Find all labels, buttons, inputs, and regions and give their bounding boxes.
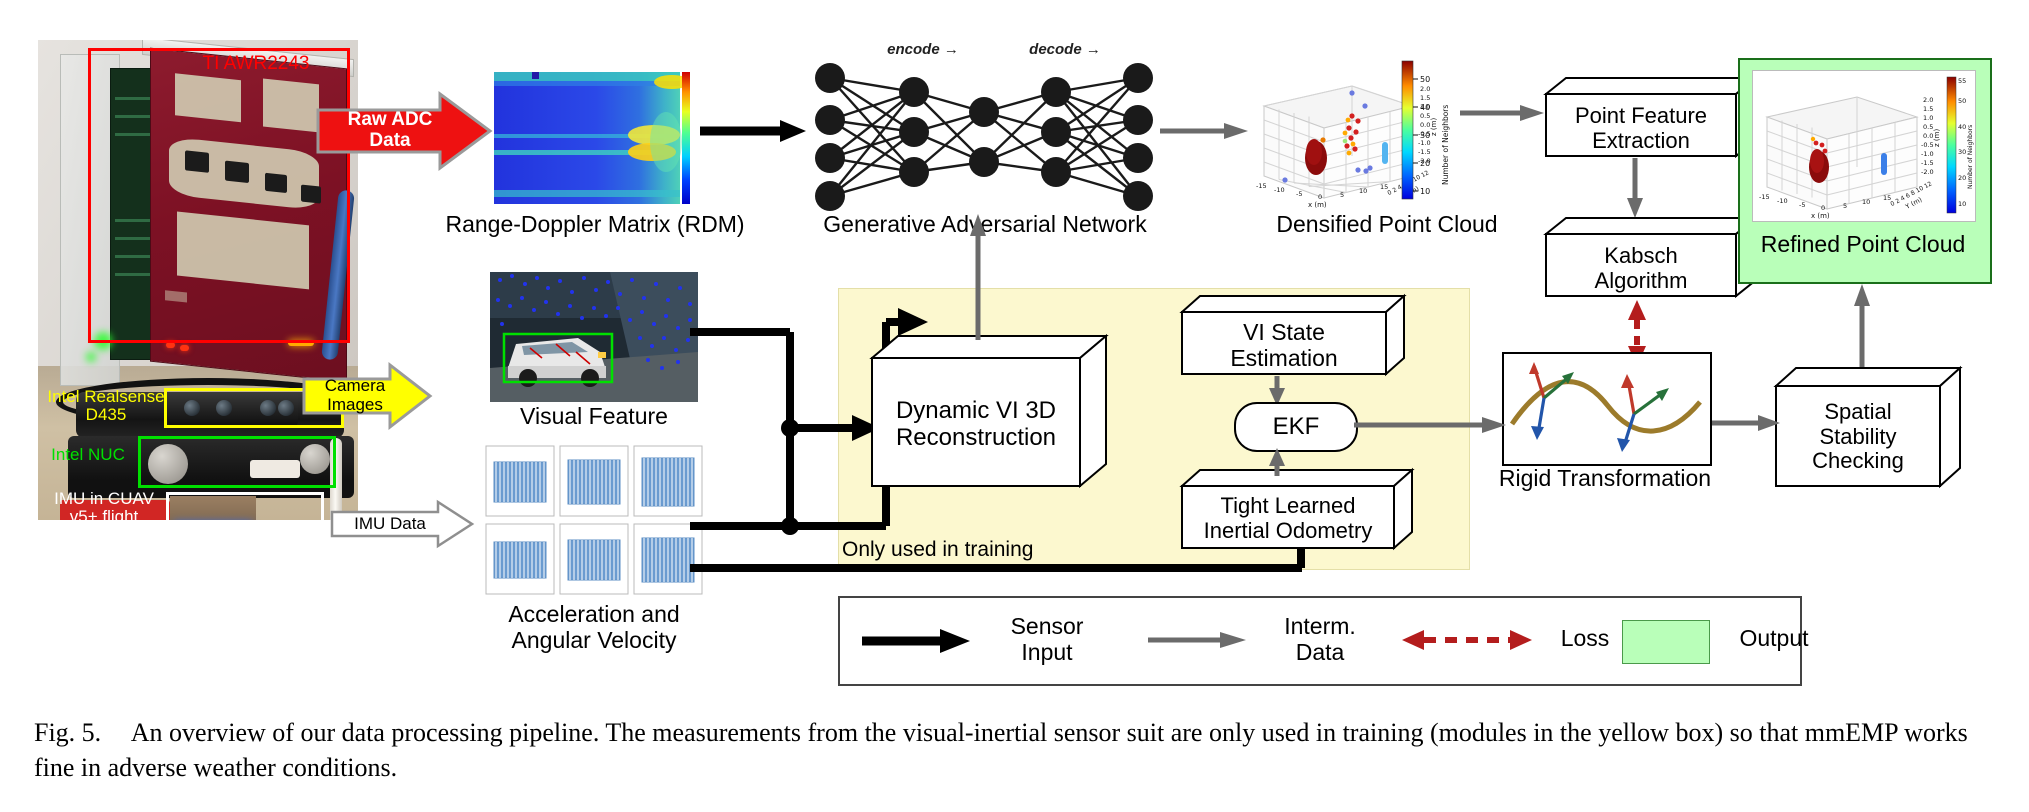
svg-text:10: 10	[1359, 187, 1367, 195]
module-vi-state-estimation[interactable]: VI State Estimation	[1182, 296, 1404, 376]
svg-text:x (m): x (m)	[1308, 201, 1327, 209]
svg-text:z (m): z (m)	[1933, 129, 1941, 147]
refined-point-cloud-caption: Refined Point Cloud	[1742, 232, 1984, 258]
legend-interm-data-label: Interm. Data	[1250, 614, 1390, 666]
gan-encode-label: encode →	[858, 42, 988, 59]
svg-text:-1.5: -1.5	[1921, 159, 1934, 167]
imu-signal-caption: Acceleration and Angular Velocity	[466, 602, 722, 654]
arrow-raw-adc-data: Raw ADC Data	[316, 92, 492, 170]
arrow-imu-data: IMU Data	[330, 500, 474, 548]
svg-text:2.0: 2.0	[1923, 96, 1933, 104]
rigid-transformation-caption: Rigid Transformation	[1480, 466, 1730, 492]
svg-text:20: 20	[1958, 174, 1966, 182]
wire-imu-to-tlio	[690, 556, 1310, 582]
legend-loss-label: Loss	[1540, 626, 1630, 652]
arrow-camera-images: Camera Images	[302, 363, 432, 429]
arrow-rigid-to-spatial	[1706, 414, 1782, 432]
legend-output-swatch	[1622, 620, 1710, 664]
svg-text:50: 50	[1958, 97, 1966, 105]
bbox-nuc	[138, 436, 336, 488]
svg-text:Number of Neighbors: Number of Neighbors	[1441, 105, 1450, 185]
svg-text:1.0: 1.0	[1923, 114, 1933, 122]
svg-text:1.5: 1.5	[1923, 105, 1933, 113]
legend-output-label: Output	[1714, 626, 1834, 652]
figure-canvas: TI AWR2243 Intel Realsense D435 Intel NU…	[0, 0, 2029, 812]
caption-label: Fig. 5.	[34, 718, 101, 747]
svg-text:40: 40	[1420, 103, 1430, 112]
refined-point-cloud-plot: 2.01.51.0 0.50.0-0.5 -1.0-1.5-2.0 -15-10…	[1752, 70, 1976, 222]
module-dynamic-vi-3d-reconstruction-label: Dynamic VI 3D Reconstruction	[872, 398, 1080, 452]
photo-label-imu: IMU in CUAV v5+ flight controller	[38, 490, 170, 520]
imu-signal-plots	[486, 446, 702, 596]
svg-text:0: 0	[1318, 193, 1322, 201]
gan-decode-label: decode →	[1000, 42, 1130, 59]
module-tight-learned-inertial-odometry[interactable]: Tight Learned Inertial Odometry	[1182, 470, 1412, 550]
module-point-feature-extraction[interactable]: Point Feature Extraction	[1546, 78, 1756, 158]
svg-text:5: 5	[1843, 202, 1847, 210]
ekf-node[interactable]: EKF	[1234, 402, 1358, 452]
module-vi-state-estimation-label: VI State Estimation	[1182, 320, 1386, 372]
arrow-recon-to-gan	[968, 212, 988, 340]
legend-sensor-input-label: Sensor Input	[972, 614, 1122, 666]
svg-text:10: 10	[1862, 198, 1870, 206]
svg-text:0.5: 0.5	[1923, 123, 1933, 131]
module-spatial-stability-checking-label: Spatial Stability Checking	[1776, 400, 1940, 474]
sensor-suite-photo: TI AWR2243 Intel Realsense D435 Intel NU…	[38, 40, 358, 520]
photo-label-radar: TI AWR2243	[166, 54, 346, 75]
svg-text:-5: -5	[1296, 190, 1302, 198]
svg-text:0.0: 0.0	[1923, 132, 1933, 140]
svg-text:-0.5: -0.5	[1921, 141, 1934, 149]
bbox-radar	[88, 48, 350, 343]
svg-text:x (m): x (m)	[1811, 212, 1830, 220]
arrow-raw-adc-data-label: Raw ADC Data	[348, 110, 433, 152]
visual-feature-caption: Visual Feature	[474, 404, 714, 430]
svg-text:-15: -15	[1759, 193, 1770, 201]
photo-label-nuc: Intel NUC	[40, 446, 136, 464]
arrow-densified-to-pfe	[1460, 104, 1546, 122]
svg-text:-10: -10	[1777, 197, 1788, 205]
bbox-imu	[166, 492, 324, 520]
module-point-feature-extraction-label: Point Feature Extraction	[1546, 104, 1736, 153]
svg-text:40: 40	[1958, 123, 1966, 131]
photo-label-camera: Intel Realsense D435	[42, 388, 170, 425]
svg-text:Number of Neighbors: Number of Neighbors	[1967, 125, 1974, 189]
module-spatial-stability-checking[interactable]: Spatial Stability Checking	[1776, 368, 1960, 486]
gan-network	[808, 58, 1160, 206]
arrow-ekf-to-rigid	[1354, 416, 1508, 434]
svg-text:50: 50	[1420, 75, 1430, 84]
svg-text:5: 5	[1340, 191, 1344, 199]
svg-text:-15: -15	[1256, 182, 1267, 190]
arrow-gan-to-densified	[1160, 122, 1250, 140]
svg-text:-5: -5	[1799, 201, 1805, 209]
densified-colorbar: 504030 2010 Number of Neighbors	[1400, 55, 1476, 205]
caption-text: An overview of our data processing pipel…	[34, 718, 1968, 782]
legend-interm-data-icon	[1148, 630, 1248, 650]
svg-text:10: 10	[1420, 187, 1430, 196]
module-kabsch-algorithm[interactable]: Kabsch Algorithm	[1546, 218, 1756, 298]
legend-loss-icon	[1402, 626, 1532, 654]
svg-text:0: 0	[1821, 204, 1825, 212]
arrow-imu-data-label: IMU Data	[354, 515, 426, 534]
svg-text:-1.0: -1.0	[1921, 150, 1934, 158]
rdm-caption: Range-Doppler Matrix (RDM)	[420, 212, 770, 238]
arrow-pfe-to-kabsch	[1626, 158, 1644, 220]
arrow-spatial-to-refined	[1852, 282, 1872, 374]
svg-text:55: 55	[1958, 77, 1966, 85]
rigid-transformation-plot	[1502, 352, 1712, 466]
svg-text:30: 30	[1420, 131, 1430, 140]
ekf-label: EKF	[1273, 413, 1320, 441]
module-tight-learned-inertial-odometry-label: Tight Learned Inertial Odometry	[1182, 494, 1394, 543]
svg-text:10: 10	[1958, 200, 1966, 208]
svg-text:30: 30	[1958, 148, 1966, 156]
arrow-camera-images-label: Camera Images	[325, 377, 385, 414]
module-kabsch-algorithm-label: Kabsch Algorithm	[1546, 244, 1736, 293]
svg-text:-2.0: -2.0	[1921, 168, 1934, 176]
module-dynamic-vi-3d-reconstruction[interactable]: Dynamic VI 3D Reconstruction	[872, 336, 1106, 486]
svg-text:20: 20	[1420, 159, 1430, 168]
svg-text:-10: -10	[1274, 186, 1285, 194]
arrow-tlio-to-ekf	[1262, 448, 1292, 476]
range-doppler-matrix-plot	[494, 72, 690, 204]
legend-sensor-input-icon	[862, 628, 972, 654]
densified-point-cloud-caption: Densified Point Cloud	[1222, 212, 1552, 238]
visual-feature-image	[490, 272, 698, 402]
arrow-rdm-to-gan	[700, 118, 808, 144]
